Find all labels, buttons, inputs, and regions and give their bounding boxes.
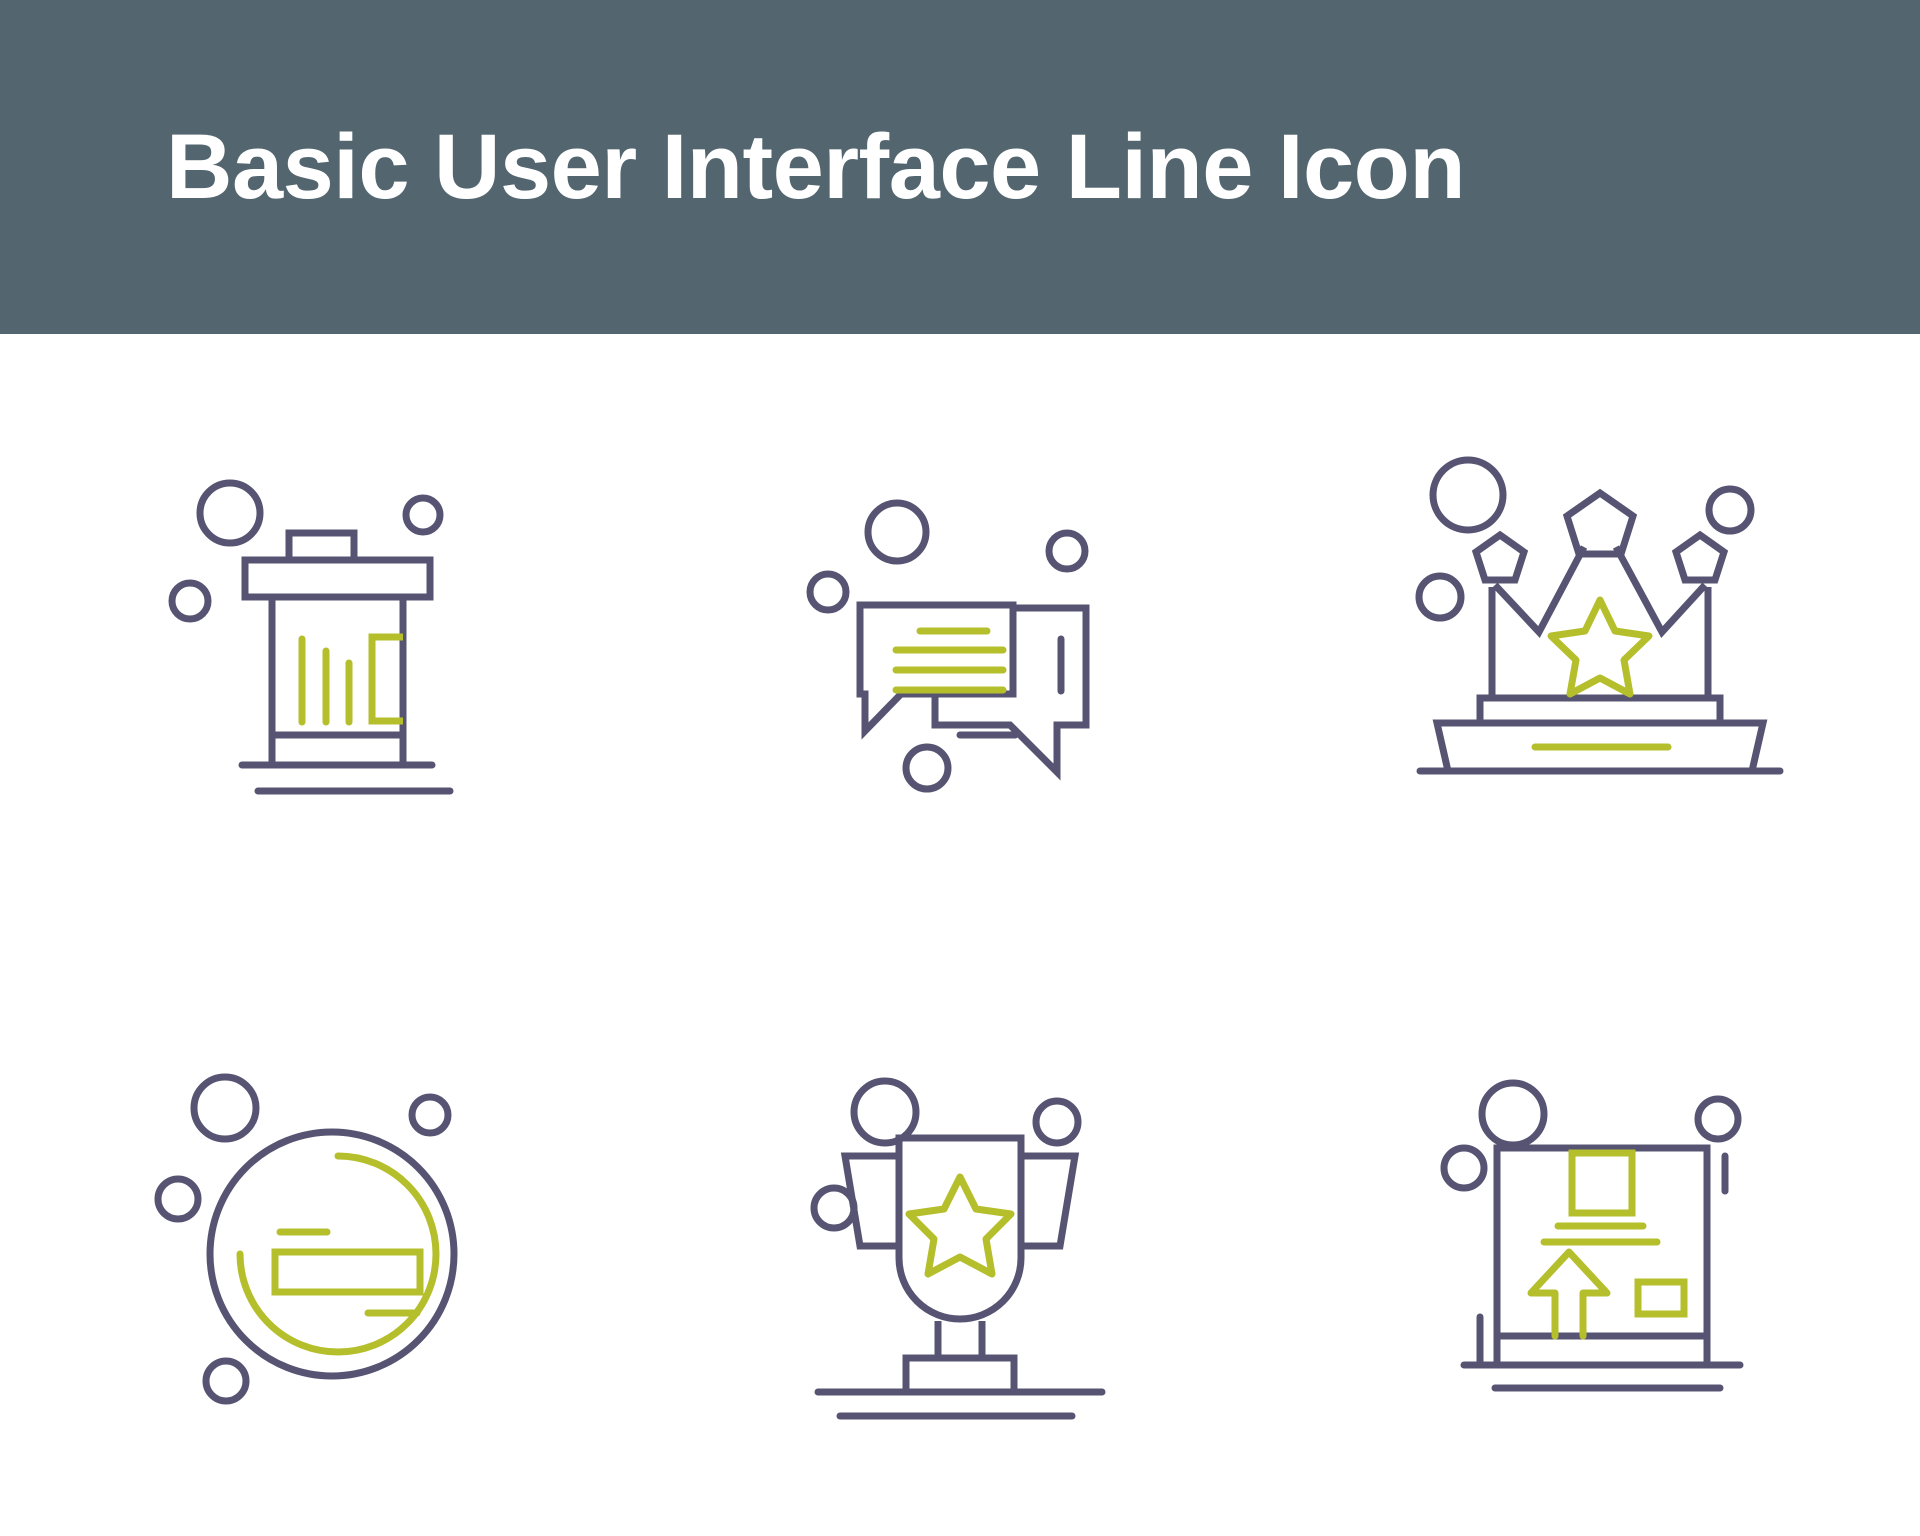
icon-cell-trash-bin[interactable] (0, 334, 640, 935)
minus-circle-icon[interactable] (120, 1036, 520, 1436)
trophy-icon[interactable] (760, 1036, 1160, 1436)
package-box-icon[interactable] (1400, 1036, 1800, 1436)
crown-icon[interactable] (1400, 435, 1800, 835)
icon-cell-minus-circle[interactable] (0, 935, 640, 1536)
icon-cell-crown[interactable] (1280, 334, 1920, 935)
trash-bin-icon[interactable] (120, 435, 520, 835)
header-bar: Basic User Interface Line Icon (0, 0, 1920, 334)
icon-cell-package-box[interactable] (1280, 935, 1920, 1536)
chat-bubbles-icon[interactable] (760, 435, 1160, 835)
icon-grid (0, 334, 1920, 1536)
page-title: Basic User Interface Line Icon (0, 121, 1465, 213)
icon-set-page: Basic User Interface Line Icon (0, 0, 1920, 1536)
icon-cell-trophy[interactable] (640, 935, 1280, 1536)
icon-cell-chat-bubbles[interactable] (640, 334, 1280, 935)
